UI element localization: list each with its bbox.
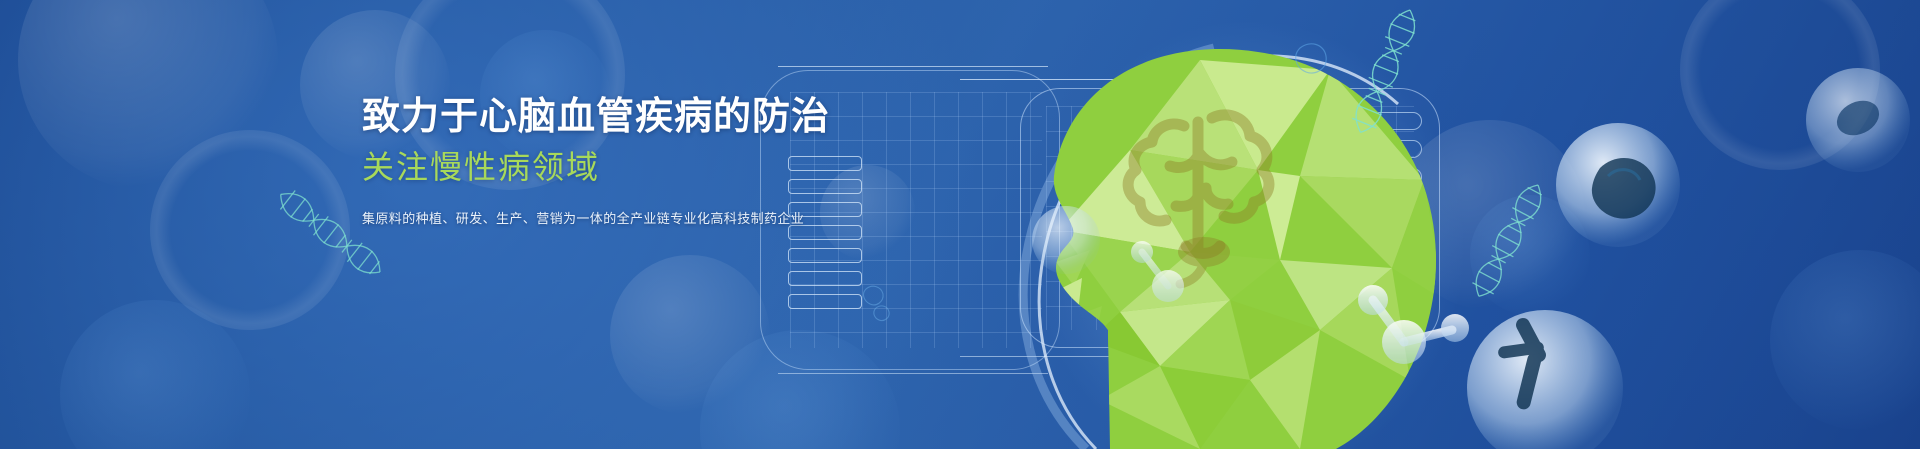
bokeh-circle — [610, 255, 770, 415]
hud-slot-list-left — [788, 156, 862, 309]
dna-helix-icon — [1468, 179, 1548, 302]
cell-icon — [1806, 68, 1910, 172]
hud-slot — [788, 179, 862, 194]
bokeh-circle — [150, 130, 350, 330]
headline-primary: 致力于心脑血管疾病的防治 — [362, 96, 792, 140]
bokeh-circle — [18, 0, 278, 190]
bokeh-circle — [1470, 195, 1590, 315]
hud-slot — [1358, 112, 1422, 130]
hud-bottom-rule — [778, 373, 1048, 374]
hud-slot — [1358, 224, 1422, 242]
hud-slot — [788, 225, 862, 240]
headline-secondary: 关注慢性病领域 — [362, 148, 792, 186]
bokeh-circle — [1680, 0, 1880, 170]
hud-slot — [1358, 252, 1422, 270]
hud-slot — [1358, 308, 1422, 326]
hud-grid-panel-right — [1020, 88, 1440, 348]
hud-slot — [1358, 140, 1422, 158]
hud-slot — [788, 248, 862, 263]
hud-slot — [1358, 168, 1422, 186]
hud-slot — [1358, 196, 1422, 214]
hud-top-rule — [960, 79, 1218, 80]
cell-icon — [1556, 123, 1680, 247]
hud-bottom-rule — [960, 356, 1218, 357]
hud-top-rule — [778, 66, 1048, 67]
hero-banner: 致力于心脑血管疾病的防治 关注慢性病领域 集原料的种植、研发、生产、营销为一体的… — [0, 0, 1920, 449]
bokeh-circle — [1770, 250, 1920, 430]
hud-slot — [788, 294, 862, 309]
microbe-speck — [1296, 44, 1326, 73]
hud-slot — [1358, 280, 1422, 298]
hud-slot-ladder — [1358, 112, 1422, 326]
headline-block: 致力于心脑血管疾病的防治 关注慢性病领域 集原料的种植、研发、生产、营销为一体的… — [362, 96, 792, 227]
hud-slot — [788, 156, 862, 171]
cell-icon — [1467, 310, 1623, 449]
headline-subtitle: 集原料的种植、研发、生产、营销为一体的全产业链专业化高科技制药企业 — [362, 208, 792, 227]
bokeh-circle — [60, 300, 250, 449]
hud-slot — [788, 271, 862, 286]
